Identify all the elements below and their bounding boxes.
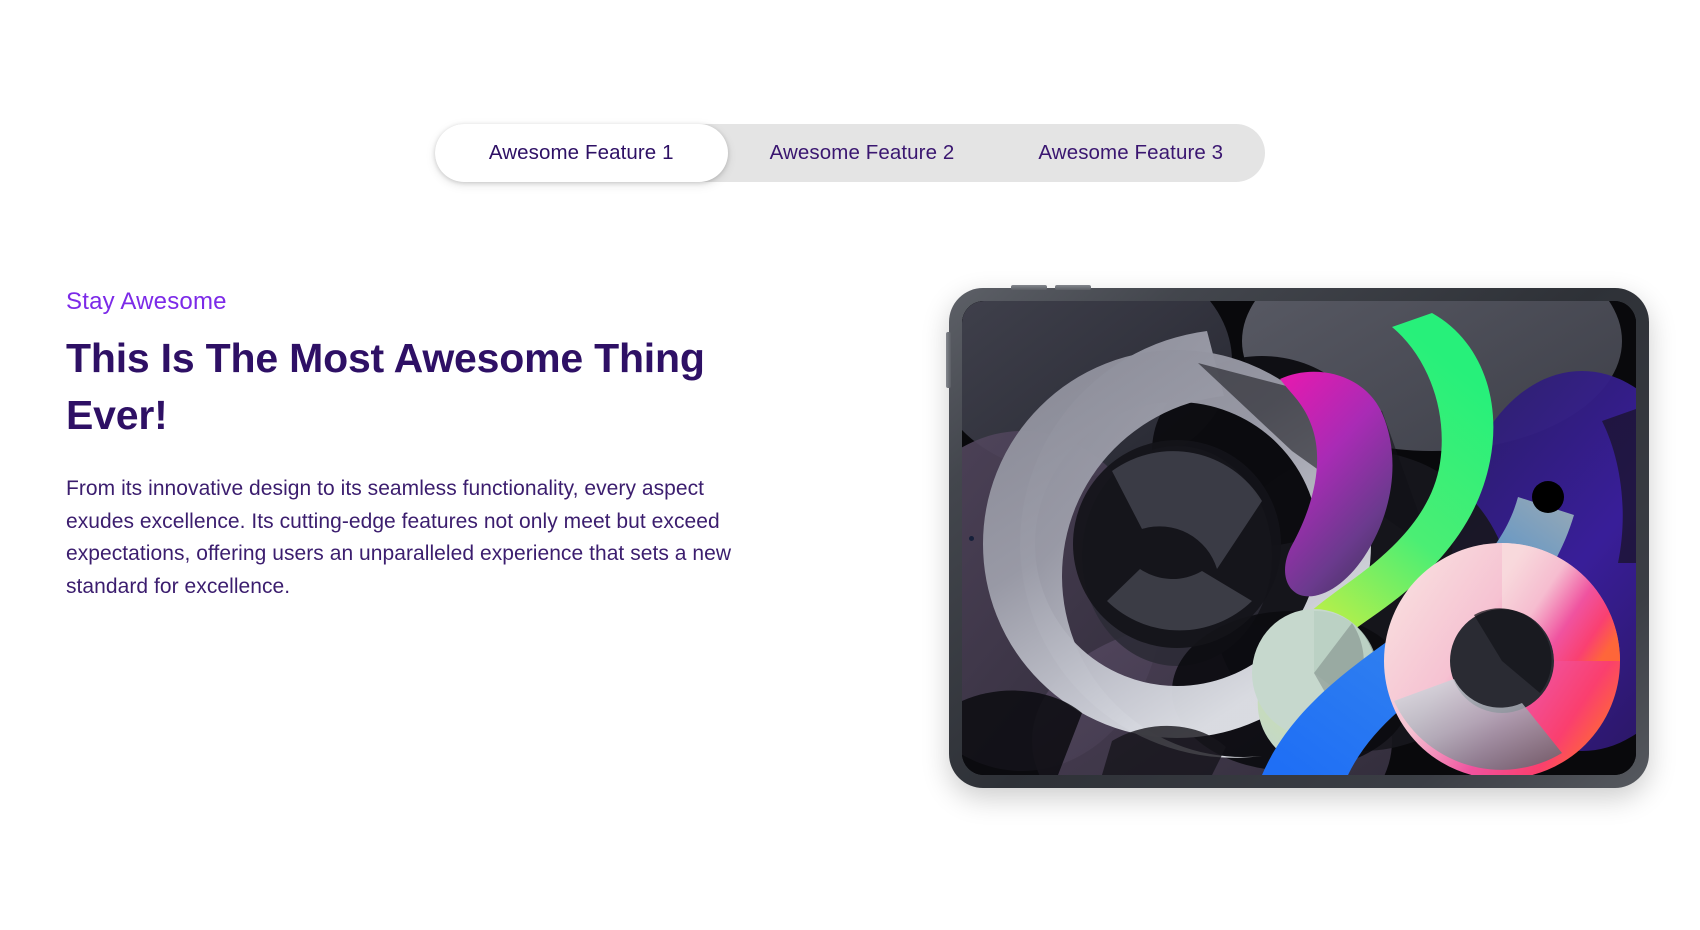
- tablet-screen: [962, 301, 1636, 775]
- feature-description: From its innovative design to its seamle…: [66, 473, 746, 603]
- tablet-device-mockup: [949, 288, 1649, 788]
- tab-label: Awesome Feature 2: [770, 141, 955, 165]
- volume-up-button-icon: [1011, 285, 1047, 290]
- tab-label: Awesome Feature 1: [489, 141, 674, 165]
- tab-switcher-container: Awesome Feature 1 Awesome Feature 2 Awes…: [0, 124, 1700, 182]
- tab-awesome-feature-2[interactable]: Awesome Feature 2: [728, 124, 997, 182]
- eyebrow-text: Stay Awesome: [66, 288, 806, 316]
- tab-label: Awesome Feature 3: [1038, 141, 1223, 165]
- page-title: This Is The Most Awesome Thing Ever!: [66, 330, 756, 443]
- volume-down-button-icon: [1055, 285, 1091, 290]
- wallpaper-image: [962, 301, 1636, 775]
- tab-awesome-feature-1[interactable]: Awesome Feature 1: [435, 124, 728, 182]
- tab-switcher: Awesome Feature 1 Awesome Feature 2 Awes…: [435, 124, 1265, 182]
- feature-text-column: Stay Awesome This Is The Most Awesome Th…: [66, 288, 806, 603]
- feature-section: Awesome Feature 1 Awesome Feature 2 Awes…: [0, 0, 1700, 930]
- front-camera-icon: [969, 536, 974, 541]
- tab-awesome-feature-3[interactable]: Awesome Feature 3: [996, 124, 1265, 182]
- power-button-icon: [946, 332, 951, 388]
- tablet-frame: [949, 288, 1649, 788]
